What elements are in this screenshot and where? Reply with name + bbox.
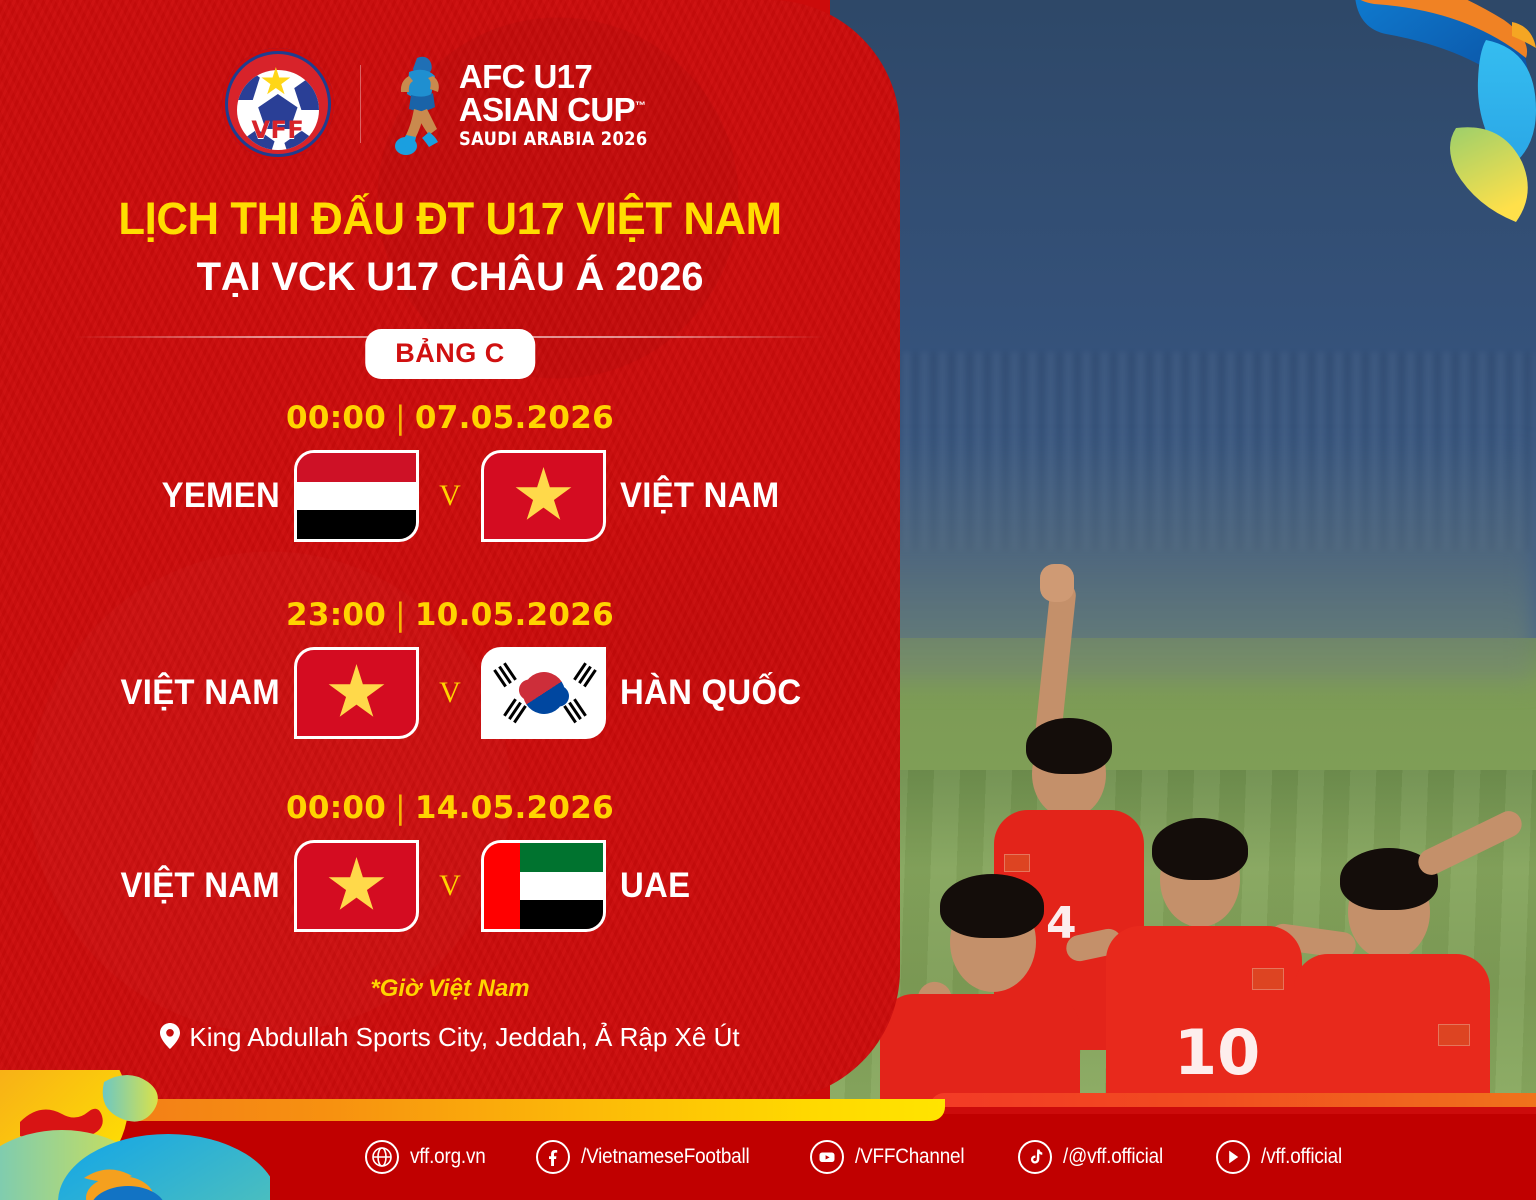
tiktok-icon [1018,1140,1052,1174]
home-team-name: YEMEN [45,476,280,516]
versus-label: V [433,676,467,710]
datetime-separator: | [395,400,406,436]
vff-logo: VFF [222,48,334,160]
globe-icon [365,1140,399,1174]
social-label: /VFFChannel [855,1145,964,1169]
datetime-separator: | [395,597,406,633]
info-panel: VFF [0,0,900,1100]
away-team-name: UAE [620,866,855,906]
match-datetime: 00:00|07.05.2026 [0,400,900,436]
home-team-name: VIỆT NAM [45,673,280,713]
page-subtitle: TẠI VCK U17 CHÂU Á 2026 [0,255,900,300]
match-datetime: 23:00|10.05.2026 [0,597,900,633]
logo-row: VFF [0,48,900,160]
versus-label: V [433,869,467,903]
match-date: 14.05.2026 [415,790,614,826]
timezone-note: *Giờ Việt Nam [0,975,900,1003]
afc-player-icon [387,52,449,156]
page-title: LỊCH THI ĐẤU ĐT U17 VIỆT NAM [14,193,887,245]
match-date: 10.05.2026 [415,597,614,633]
vietnam-flag [294,647,419,739]
south-korea-flag [481,647,606,739]
vietnam-flag [294,840,419,932]
match-time: 23:00 [286,597,386,633]
social-label: vff.org.vn [410,1145,486,1169]
social-item-website[interactable]: vff.org.vn [365,1140,494,1174]
match-datetime: 00:00|14.05.2026 [0,790,900,826]
strip-upper [930,1093,1536,1107]
social-item-youtube[interactable]: /VFFChannel [810,1140,977,1174]
venue-text: King Abdullah Sports City, Jeddah, Ả Rập… [189,1022,739,1052]
match-row: 00:00|14.05.2026 VIỆT NAM V UAE [0,790,900,932]
vff-logo-text: VFF [251,116,304,144]
match-row: 00:00|07.05.2026 YEMEN V VIỆT NAM [0,400,900,542]
social-item-play[interactable]: /vff.official [1216,1140,1351,1174]
poster-root: 4 10 10 8 [0,0,1536,1200]
play-icon [1216,1140,1250,1174]
logo-divider [360,65,361,143]
social-label: /vff.official [1261,1145,1342,1169]
away-team-name: VIỆT NAM [620,476,855,516]
youtube-icon [810,1140,844,1174]
datetime-separator: | [395,790,406,826]
yemen-flag [294,450,419,542]
match-time: 00:00 [286,400,386,436]
versus-label: V [433,479,467,513]
away-team-name: HÀN QUỐC [620,673,855,713]
uae-flag [481,840,606,932]
afc-title-line1: AFC U17 [459,60,678,93]
photo-blur-band [830,440,1536,682]
social-item-tiktok[interactable]: /@vff.official [1018,1140,1174,1174]
home-team-name: VIỆT NAM [45,866,280,906]
match-row: 23:00|10.05.2026 VIỆT NAM V HÀN QUỐC [0,597,900,739]
location-pin-icon [160,1023,180,1056]
venue-line: King Abdullah Sports City, Jeddah, Ả Rập… [0,1022,900,1056]
facebook-icon [536,1140,570,1174]
status-badge: BẢNG C [365,329,535,379]
decoration-bottom-left [0,1070,270,1200]
match-date: 07.05.2026 [415,400,614,436]
afc-logo: AFC U17 ASIAN CUP™ SAUDI ARABIA 2026 [387,52,678,156]
afc-subtitle: SAUDI ARABIA 2026 [459,130,648,149]
social-label: /@vff.official [1063,1145,1163,1169]
match-time: 00:00 [286,790,386,826]
trademark-symbol: ™ [635,100,645,112]
vietnam-flag [481,450,606,542]
afc-title-line2: ASIAN CUP [459,91,635,128]
social-label: /VietnameseFootball [581,1145,750,1169]
social-item-facebook[interactable]: /VietnameseFootball [536,1140,768,1174]
decoration-top-right [1326,0,1536,240]
